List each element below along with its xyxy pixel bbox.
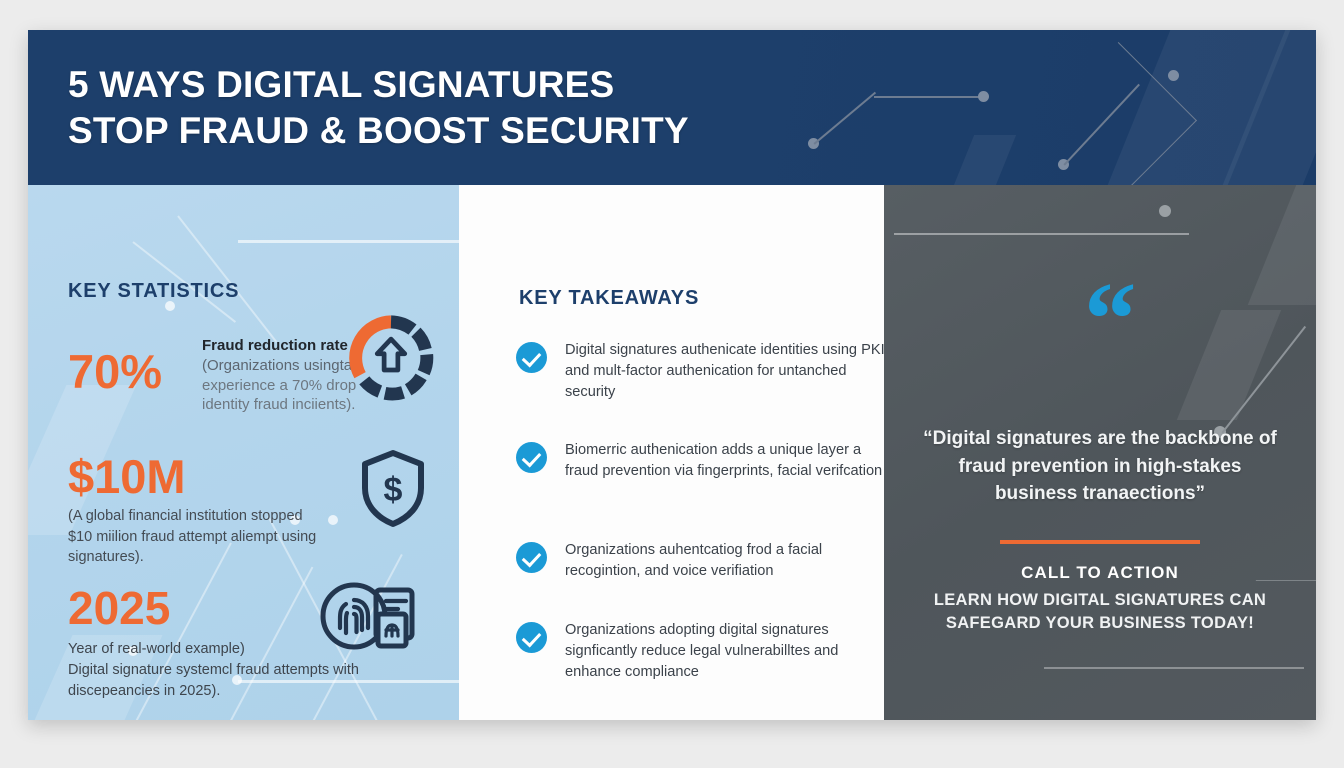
stat-2-value: $10M [68, 453, 388, 500]
left-deco-hline-top [238, 240, 459, 243]
page-title: 5 WAYS DIGITAL SIGNATURES STOP FRAUD & B… [68, 62, 828, 154]
right-deco-hline-bottom [1044, 667, 1304, 669]
stat-item-2: $10M (A global financial institution sto… [68, 453, 388, 568]
stat-1-value: 70% [68, 348, 162, 395]
quote-text: “Digital signatures are the backbone of … [920, 425, 1280, 508]
key-statistics-title: KEY STATISTICS [68, 280, 239, 303]
check-circle-icon [516, 342, 547, 373]
cta-divider [1000, 540, 1200, 544]
cta-line-2: SAFEGARD YOUR BUSINESS TODAY! [946, 614, 1254, 632]
gauge-up-arrow-icon [348, 315, 434, 401]
title-line-2: STOP FRAUD & BOOST SECURITY [68, 108, 828, 154]
check-circle-icon [516, 442, 547, 473]
header-node-2 [978, 91, 989, 102]
stat-1-desc-line-1: (Organizations usingtal [202, 357, 355, 374]
check-circle-icon [516, 542, 547, 573]
takeaway-item-3: Organizations auhentcatiog frod a facial… [516, 540, 884, 582]
fingerprint-id-icon [318, 580, 418, 656]
key-takeaways-panel: KEY TAKEAWAYS Digital signatures autheni… [459, 185, 884, 720]
stat-2-desc-line-1: (A global financial institution stopped [68, 508, 303, 524]
takeaway-3-text: Organizations auhentcatiog frod a facial… [565, 540, 884, 582]
right-deco-parallelogram-2 [1177, 310, 1281, 420]
stat-3-desc-line-2: Digital signature systemcl fraud attempt… [68, 662, 359, 678]
infographic-poster: 5 WAYS DIGITAL SIGNATURES STOP FRAUD & B… [28, 30, 1316, 720]
takeaway-item-1: Digital signatures authenicate identitie… [516, 340, 884, 403]
right-deco-hline-top [894, 233, 1189, 235]
takeaway-item-2: Biomerric authenication adds a unique la… [516, 440, 884, 482]
stat-2-desc-line-2: $10 miilion fraud attempt aliempt using [68, 529, 316, 545]
stat-2-desc-line-3: signatures). [68, 549, 144, 565]
shield-dollar-icon: $ [358, 448, 428, 528]
quote-mark-icon: “ [1084, 280, 1135, 359]
key-statistics-panel: KEY STATISTICS 70% Fraud reduction rate … [28, 185, 459, 720]
header-node-3 [1168, 70, 1179, 81]
stat-2-description: (A global financial institution stopped … [68, 506, 383, 568]
stat-3-desc-line-1: Year of real-world example) [68, 641, 245, 657]
check-circle-icon [516, 622, 547, 653]
cta-message: LEARN HOW DIGITAL SIGNATURES CAN SAFEGAR… [900, 589, 1300, 635]
header-wire-2 [874, 96, 984, 98]
takeaway-1-text: Digital signatures authenicate identitie… [565, 340, 884, 403]
takeaway-4-text: Organizations adopting digital signature… [565, 620, 884, 683]
takeaway-item-4: Organizations adopting digital signature… [516, 620, 884, 683]
key-takeaways-title: KEY TAKEAWAYS [519, 287, 699, 310]
stat-1-label: Fraud reduction rate [202, 337, 348, 354]
stat-1-desc-line-3: identity fraud inciients). [202, 396, 355, 413]
right-deco-node-2 [1159, 205, 1171, 217]
takeaway-2-text: Biomerric authenication adds a unique la… [565, 440, 884, 482]
svg-text:$: $ [384, 471, 403, 509]
quote-cta-panel: “ “Digital signatures are the backbone o… [884, 185, 1316, 720]
right-deco-parallelogram-1 [1248, 185, 1316, 305]
title-line-1: 5 WAYS DIGITAL SIGNATURES [68, 62, 828, 108]
header-parallelogram-3 [942, 135, 1016, 185]
poster-header: 5 WAYS DIGITAL SIGNATURES STOP FRAUD & B… [28, 30, 1316, 185]
stat-3-desc-line-3: discepeancies in 2025). [68, 683, 220, 699]
cta-label: CALL TO ACTION [920, 563, 1280, 583]
cta-line-1: LEARN HOW DIGITAL SIGNATURES CAN [934, 591, 1266, 609]
stat-1-desc-line-2: experience a 70% drop [202, 377, 356, 394]
